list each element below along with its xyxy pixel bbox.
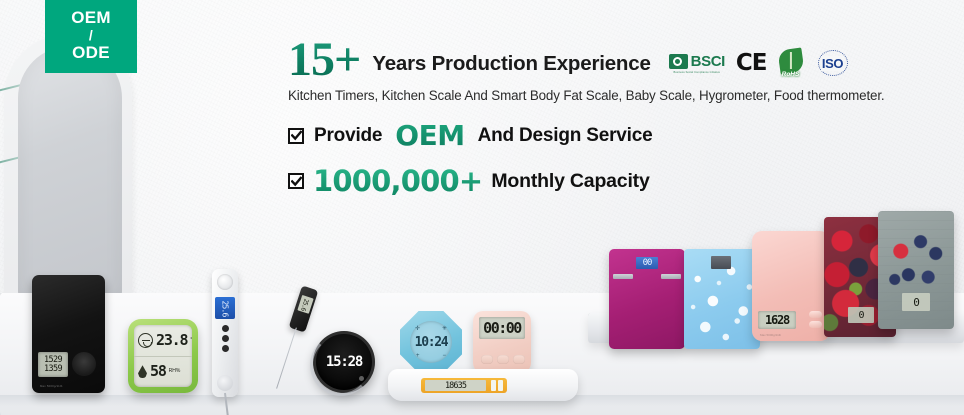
checkmark-icon: [288, 128, 304, 144]
baby-scale-panel: 18635: [421, 378, 507, 393]
thermometer-reading: 25.6: [220, 300, 229, 316]
ce-badge: CE: [736, 50, 767, 76]
rohs-badge: RoHS: [778, 49, 804, 77]
headline-block: 15+ Years Production Experience BSCI Bus…: [288, 38, 958, 198]
badge-line-ode: ODE: [72, 44, 110, 62]
berry-scale-display: 0: [848, 307, 874, 323]
product-round-black-timer: 15:28: [313, 331, 375, 393]
bsci-label: BSCI: [691, 53, 725, 70]
rohs-label: RoHS: [778, 71, 804, 78]
thermometer-hinge-bottom: [217, 375, 233, 391]
headline-row: 15+ Years Production Experience BSCI Bus…: [288, 38, 958, 82]
product-blue-dots-body-scale: [684, 249, 760, 349]
pink-scale-lcd: 1628: [758, 311, 796, 329]
humidity-unit: RH%: [169, 369, 181, 374]
badge-slash: /: [89, 28, 93, 43]
bsci-icon: [669, 54, 688, 69]
feature-prefix: Provide: [314, 125, 382, 147]
promo-banner: OEM / ODE 15+ Years Production Experienc…: [0, 0, 964, 415]
blue-scale-lcd: [711, 256, 731, 269]
scale-lcd: 1529 1359: [38, 352, 68, 377]
bsci-subtitle: Business Social Compliance Initiative: [673, 71, 720, 74]
magenta-scale-display: 00: [643, 258, 652, 268]
feature-suffix: And Design Service: [478, 125, 653, 147]
iso-label: ISO: [821, 56, 844, 71]
timer-corner-mark: +: [416, 353, 420, 359]
oem-ode-badge: OEM / ODE: [45, 0, 137, 73]
gray-scale-display: 0: [902, 293, 930, 311]
product-cream-kitchen-timer: 00:00: [473, 311, 531, 373]
timer-corner-mark: ✳: [442, 325, 447, 332]
scale-capacity-text: Max 5000g/11lb: [40, 384, 63, 388]
temperature-value: 23.8: [156, 333, 187, 348]
product-gray-wood-kitchen-scale: 0: [878, 211, 954, 329]
pink-scale-capacity-text: Max 5000g/11lb: [760, 333, 781, 337]
product-white-folding-thermometer: 25.6: [212, 269, 238, 397]
baby-scale-buttons: [491, 380, 503, 391]
lcd-line-bottom: 1359: [44, 365, 62, 374]
capacity-label: Monthly Capacity: [491, 170, 649, 193]
blue-timer-display: 10:24: [415, 335, 448, 350]
thermometer-lcd: 25.6: [215, 297, 235, 319]
timer-display: 15:28: [313, 331, 375, 393]
comfort-face-icon: [138, 333, 153, 348]
product-pink-kitchen-scale: 1628 Max 5000g/11lb: [752, 231, 830, 341]
temperature-row: 23.8 °C: [134, 325, 192, 357]
baby-scale-display: 18635: [425, 380, 486, 391]
product-black-kitchen-scale: 1529 1359 Max 5000g/11lb: [32, 275, 105, 393]
checkmark-icon: [288, 173, 304, 189]
cream-timer-display: 00:00: [483, 319, 521, 337]
years-number: 15+: [288, 38, 362, 82]
temperature-unit: °C: [190, 338, 192, 343]
electrode-left: [613, 274, 633, 279]
capacity-number: 1000,000+: [313, 164, 482, 198]
feature-row-capacity: 1000,000+ Monthly Capacity: [288, 164, 958, 198]
background-arch-niche: [18, 46, 122, 296]
product-green-hygrometer: 23.8 °C 58 RH%: [128, 319, 198, 393]
product-magenta-body-fat-scale: 00: [609, 249, 685, 349]
badge-line-oem: OEM: [71, 9, 111, 27]
thermometer-hinge-top: [217, 274, 233, 290]
iso-badge: ISO: [815, 50, 851, 76]
product-subline: Kitchen Timers, Kitchen Scale And Smart …: [288, 88, 958, 103]
timer-indicator-dot: [359, 376, 364, 381]
timer-corner-mark: −: [442, 353, 446, 359]
certification-row: BSCI Business Social Compliance Initiati…: [669, 49, 851, 82]
probe-thermometer-lcd: 25.6: [297, 295, 313, 314]
bsci-main: BSCI: [669, 53, 725, 70]
cream-timer-buttons: [481, 355, 525, 364]
magenta-scale-lcd: 00: [636, 257, 658, 269]
feature-row-oem: Provide OEM And Design Service: [288, 119, 958, 152]
bsci-badge: BSCI Business Social Compliance Initiati…: [669, 53, 725, 74]
thermometer-buttons: [222, 325, 229, 352]
pink-scale-display: 1628: [765, 313, 789, 327]
humidity-value: 58: [150, 364, 166, 379]
years-text: Years Production Experience: [372, 52, 650, 82]
scale-button-pad: [72, 352, 96, 376]
product-white-baby-scale: 18635: [388, 369, 578, 401]
hygrometer-screen: 23.8 °C 58 RH%: [134, 325, 192, 387]
probe-thermometer-reading: 25.6: [300, 297, 310, 311]
electrode-right: [661, 274, 681, 279]
pink-scale-buttons: [809, 311, 822, 328]
feature-oem-highlight: OEM: [392, 119, 467, 152]
cream-timer-lcd: 00:00: [479, 317, 525, 339]
humidity-row: 58 RH%: [134, 357, 192, 388]
blue-timer-face: ✛ ✳ + − 10:24: [410, 321, 452, 363]
timer-corner-mark: ✛: [415, 325, 420, 332]
water-drop-icon: [138, 365, 147, 378]
